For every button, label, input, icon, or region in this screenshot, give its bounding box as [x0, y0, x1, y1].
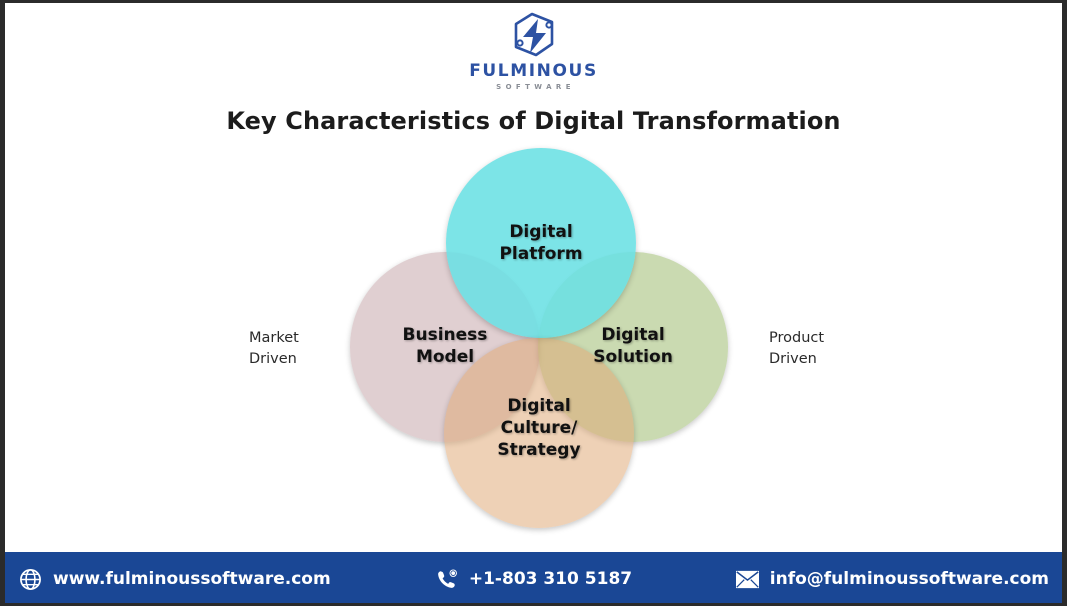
venn-label-digital-culture: Digital Culture/ Strategy — [439, 395, 639, 461]
slide-canvas: FULMINOUS SOFTWARE Key Characteristics o… — [0, 0, 1067, 606]
footer-email[interactable]: info@fulminoussoftware.com — [736, 568, 1049, 591]
venn-diagram: Digital Platform Business Model Digital … — [0, 0, 1067, 552]
footer-phone-text: +1-803 310 5187 — [469, 569, 632, 589]
contact-footer: www.fulminoussoftware.com +1-803 310 518… — [0, 552, 1067, 606]
axis-label-product-driven: Product Driven — [769, 328, 899, 370]
venn-label-digital-platform: Digital Platform — [441, 221, 641, 265]
venn-label-business-model: Business Model — [345, 324, 545, 368]
axis-label-market-driven: Market Driven — [249, 328, 369, 370]
phone-icon — [435, 568, 458, 591]
venn-label-digital-solution: Digital Solution — [533, 324, 733, 368]
footer-email-text: info@fulminoussoftware.com — [770, 569, 1049, 589]
envelope-icon — [736, 568, 759, 591]
slide-page: FULMINOUS SOFTWARE Key Characteristics o… — [0, 0, 1067, 606]
